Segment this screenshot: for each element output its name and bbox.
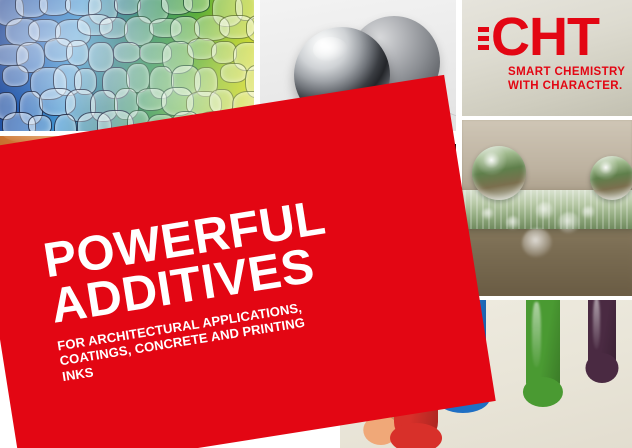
- bokeh-spot-3: [558, 212, 580, 234]
- bokeh-spot-4: [522, 228, 552, 258]
- foam-cell: [66, 40, 90, 67]
- drip-purple-bulb: [585, 353, 618, 383]
- three-horizontal-bars-icon: [478, 25, 489, 50]
- bokeh-spot-1: [536, 202, 554, 220]
- cht-logo: CHT SMART CHEMISTRY WITH CHARACTER.: [478, 14, 625, 94]
- cht-tagline-line-2: WITH CHARACTER.: [508, 80, 625, 94]
- foam-cell: [54, 114, 77, 131]
- droplet-right: [590, 156, 632, 200]
- foam-cell: [2, 65, 28, 87]
- panel-cht-logo: CHT SMART CHEMISTRY WITH CHARACTER.: [462, 0, 632, 116]
- foam-cell: [113, 42, 141, 63]
- cht-tagline: SMART CHEMISTRY WITH CHARACTER.: [508, 66, 625, 93]
- drip-green: [526, 300, 560, 398]
- drip-green-bulb: [523, 377, 563, 407]
- bokeh-spot-2: [506, 216, 520, 230]
- cht-logo-wordmark: CHT: [491, 14, 599, 60]
- poster-root: CHT SMART CHEMISTRY WITH CHARACTER.: [0, 0, 632, 448]
- panel-water-droplets: [462, 120, 632, 296]
- drip-purple: [588, 300, 616, 374]
- drip-red-bulb: [390, 423, 442, 448]
- cht-tagline-line-1: SMART CHEMISTRY: [508, 66, 625, 80]
- foam-cell: [183, 0, 210, 13]
- foam-cell: [220, 63, 247, 83]
- foam-cell: [28, 115, 53, 131]
- bokeh-spot-5: [482, 208, 494, 220]
- droplet-left: [472, 146, 526, 200]
- bokeh-spot-6: [582, 206, 595, 219]
- cht-logo-mark: CHT: [478, 14, 625, 60]
